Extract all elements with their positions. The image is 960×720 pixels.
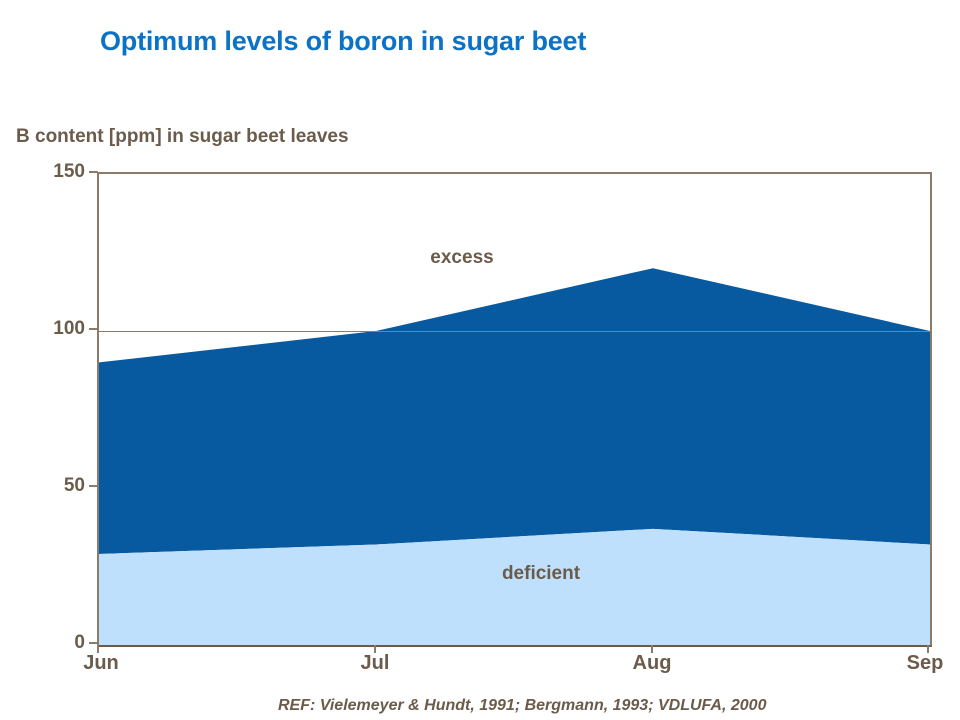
y-tick-label-150: 150	[5, 161, 85, 183]
gridline-100	[99, 331, 930, 332]
x-tick-label-aug: Aug	[633, 652, 672, 675]
annotation-deficient: deficient	[502, 563, 580, 585]
y-tick-label-50: 50	[5, 475, 85, 497]
x-tick-label-jul: Jul	[361, 652, 390, 675]
y-tick-label-0: 0	[5, 632, 85, 654]
x-tick-label-jun: Jun	[83, 652, 119, 675]
annotation-excess: excess	[430, 247, 493, 269]
page-title: Optimum levels of boron in sugar beet	[100, 26, 586, 57]
x-tick-label-sep: Sep	[907, 652, 944, 675]
area-band-optimum	[99, 268, 930, 554]
y-tick-label-100: 100	[5, 318, 85, 340]
reference-note: REF: Vielemeyer & Hundt, 1991; Bergmann,…	[278, 697, 766, 715]
slide-canvas: Optimum levels of boron in sugar beet B …	[0, 0, 960, 720]
y-axis-label: B content [ppm] in sugar beet leaves	[16, 126, 349, 148]
